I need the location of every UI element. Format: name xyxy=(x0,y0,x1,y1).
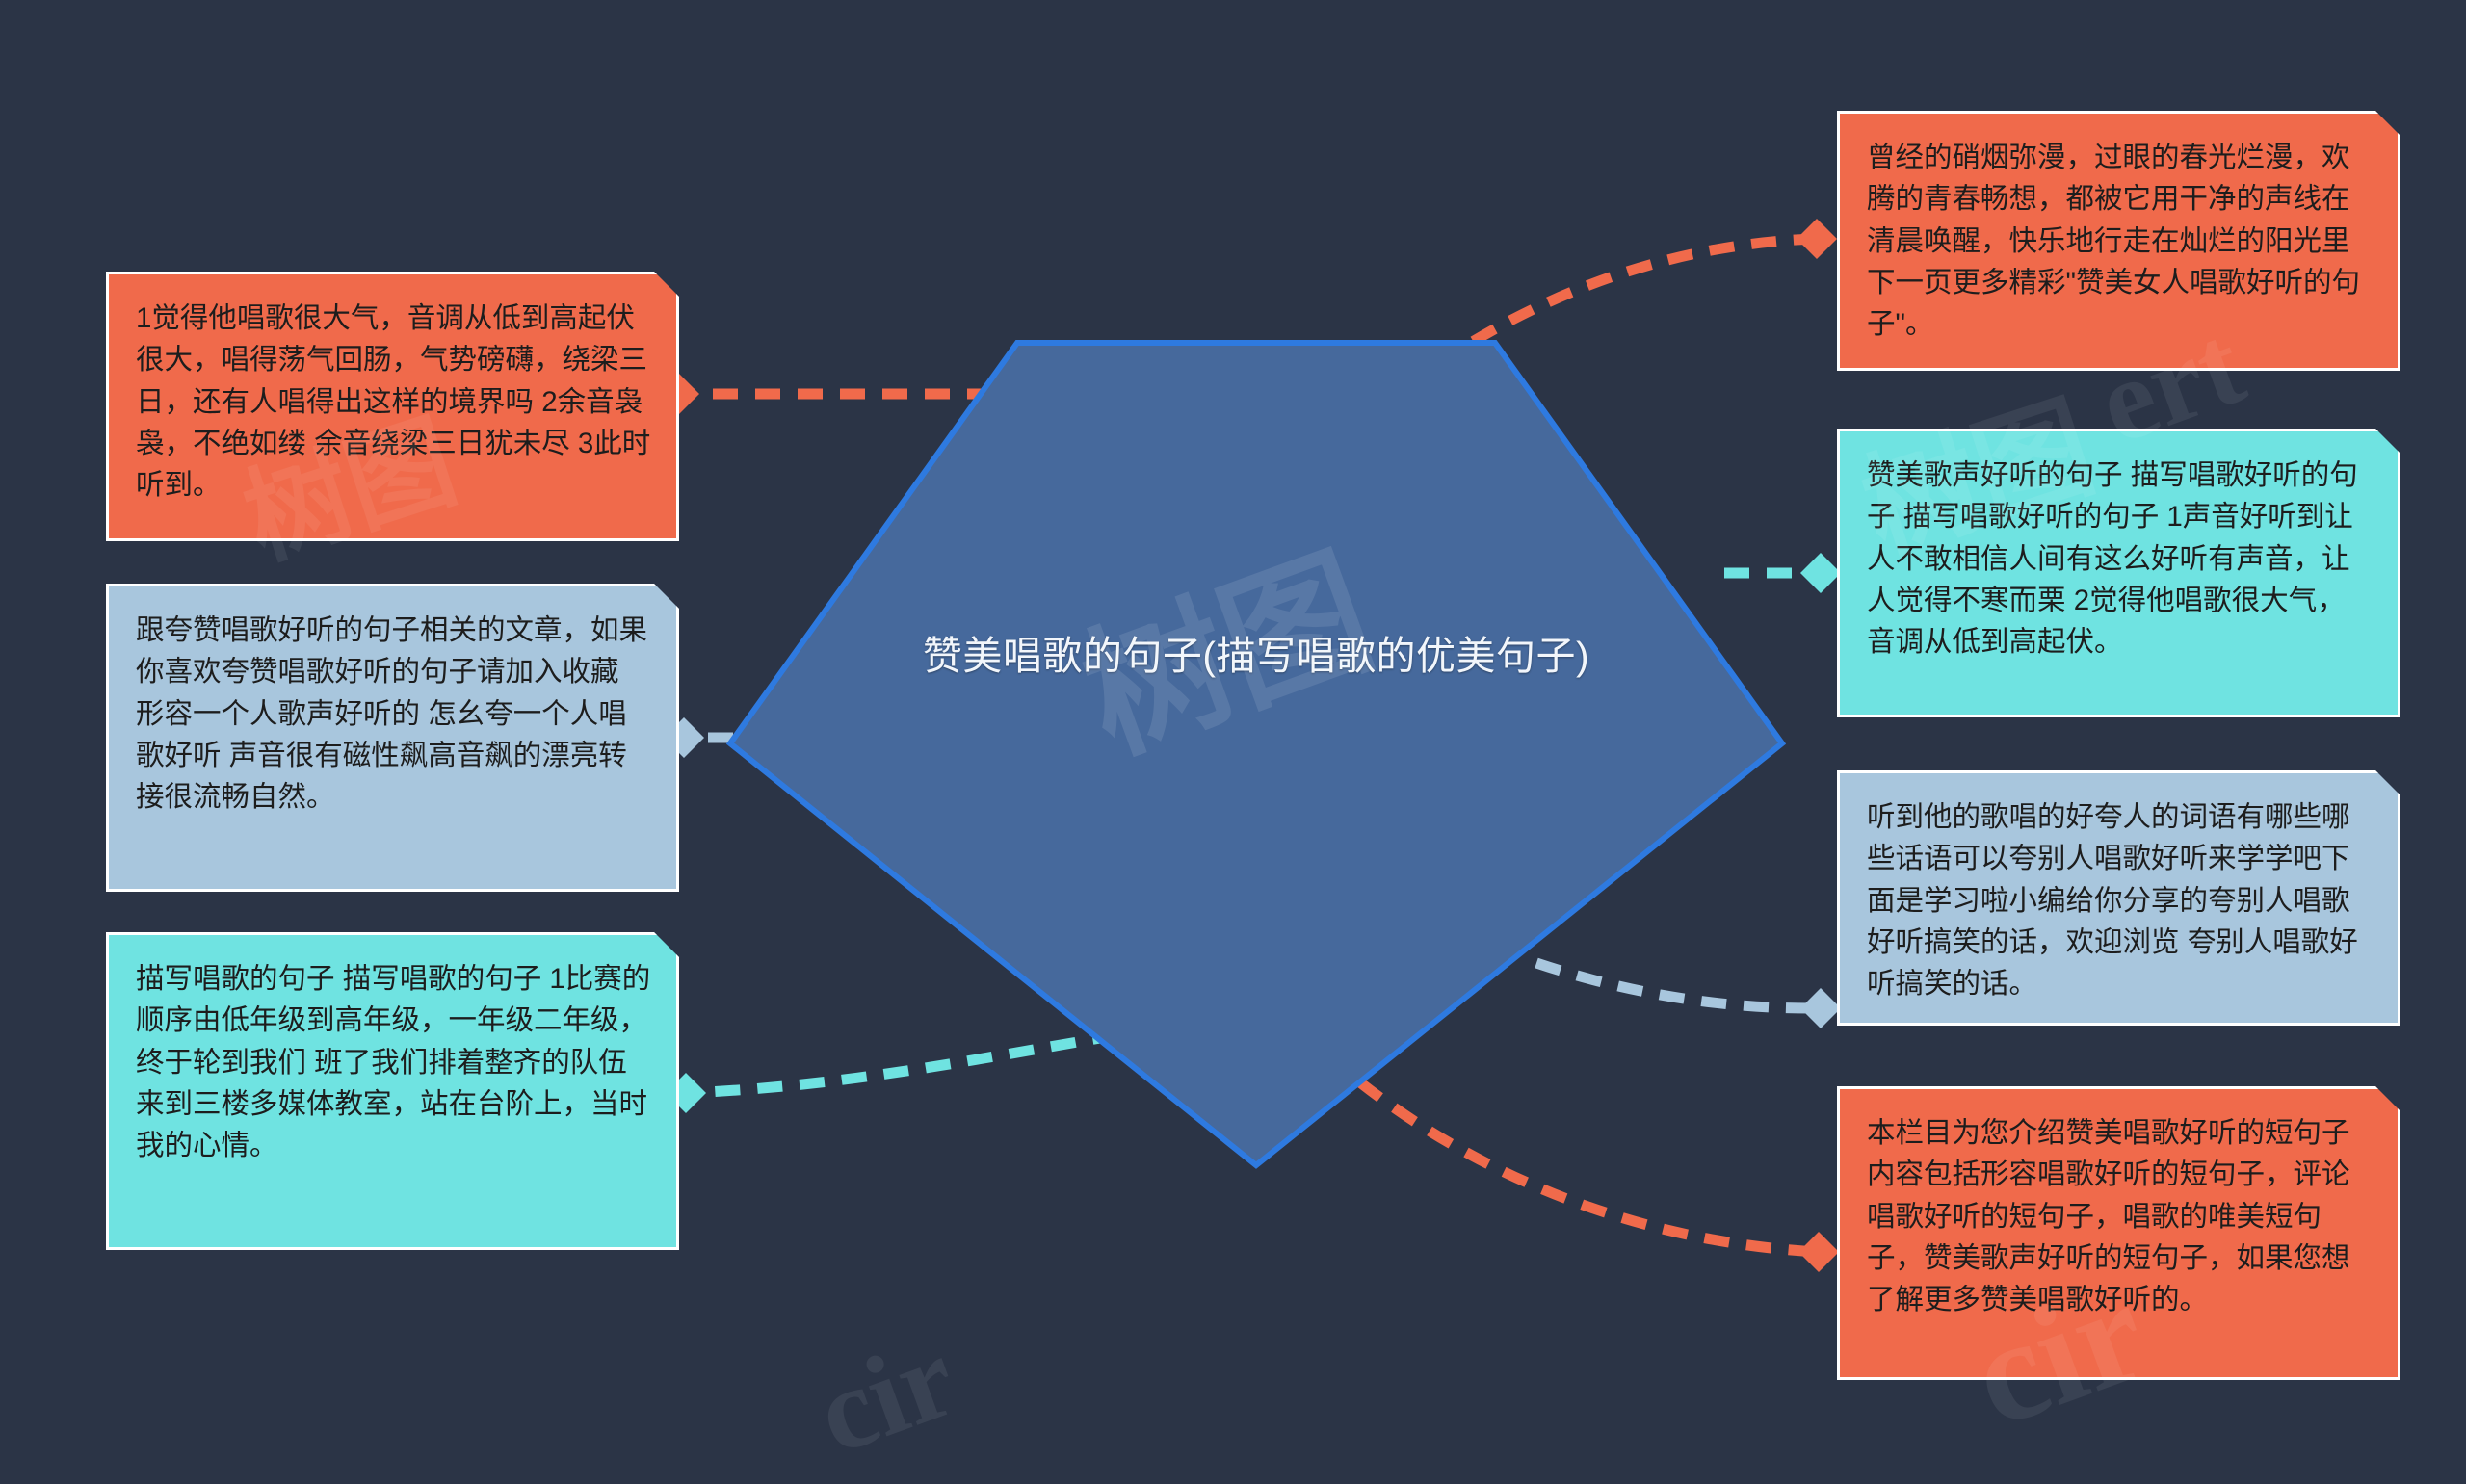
leaf-node-left-1-text: 1觉得他唱歌很大气，音调从低到高起伏很大，唱得荡气回肠，气势磅礴，绕梁三日，还有… xyxy=(136,298,651,507)
leaf-node-right-1[interactable]: 曾经的硝烟弥漫，过眼的春光烂漫，欢腾的青春畅想，都被它用干净的声线在清晨唤醒，快… xyxy=(1837,111,2400,371)
leaf-node-right-3[interactable]: 听到他的歌唱的好夸人的词语有哪些哪些话语可以夸别人唱歌好听来学学吧下面是学习啦小… xyxy=(1837,770,2400,1026)
leaf-node-left-3[interactable]: 描写唱歌的句子 描写唱歌的句子 1比赛的顺序由低年级到高年级，一年级二年级，终于… xyxy=(106,932,679,1250)
center-pentagon-shape xyxy=(726,339,1786,1169)
connector-endpoint-right-2 xyxy=(1800,553,1841,593)
leaf-node-right-3-text: 听到他的歌唱的好夸人的词语有哪些哪些话语可以夸别人唱歌好听来学学吧下面是学习啦小… xyxy=(1867,796,2373,1005)
leaf-node-right-4-text: 本栏目为您介绍赞美唱歌好听的短句子内容包括形容唱歌好听的短句子，评论唱歌好听的短… xyxy=(1867,1112,2373,1321)
leaf-node-left-1[interactable]: 1觉得他唱歌很大气，音调从低到高起伏很大，唱得荡气回肠，气势磅礴，绕梁三日，还有… xyxy=(106,272,679,541)
center-node[interactable]: 赞美唱歌的句子(描写唱歌的优美句子) xyxy=(726,339,1786,1169)
connector-endpoint-right-3 xyxy=(1800,988,1841,1028)
leaf-node-right-1-text: 曾经的硝烟弥漫，过眼的春光烂漫，欢腾的青春畅想，都被它用干净的声线在清晨唤醒，快… xyxy=(1867,137,2373,346)
leaf-node-left-3-text: 描写唱歌的句子 描写唱歌的句子 1比赛的顺序由低年级到高年级，一年级二年级，终于… xyxy=(136,958,651,1167)
leaf-node-left-2[interactable]: 跟夸赞唱歌好听的句子相关的文章，如果你喜欢夸赞唱歌好听的句子请加入收藏 形容一个… xyxy=(106,584,679,892)
connector-endpoint-right-4 xyxy=(1798,1232,1839,1272)
leaf-node-right-2[interactable]: 赞美歌声好听的句子 描写唱歌好听的句子 描写唱歌好听的句子 1声音好听到让人不敢… xyxy=(1837,429,2400,717)
connector-endpoint-right-1 xyxy=(1797,219,1837,259)
leaf-node-right-2-text: 赞美歌声好听的句子 描写唱歌好听的句子 描写唱歌好听的句子 1声音好听到让人不敢… xyxy=(1867,455,2373,664)
mindmap-canvas: 树图 树图 树图 cir ert cir 赞美唱歌的句子(描写唱歌的优美句子) … xyxy=(0,0,2466,1484)
leaf-node-right-4[interactable]: 本栏目为您介绍赞美唱歌好听的短句子内容包括形容唱歌好听的短句子，评论唱歌好听的短… xyxy=(1837,1086,2400,1380)
leaf-node-left-2-text: 跟夸赞唱歌好听的句子相关的文章，如果你喜欢夸赞唱歌好听的句子请加入收藏 形容一个… xyxy=(136,610,651,819)
